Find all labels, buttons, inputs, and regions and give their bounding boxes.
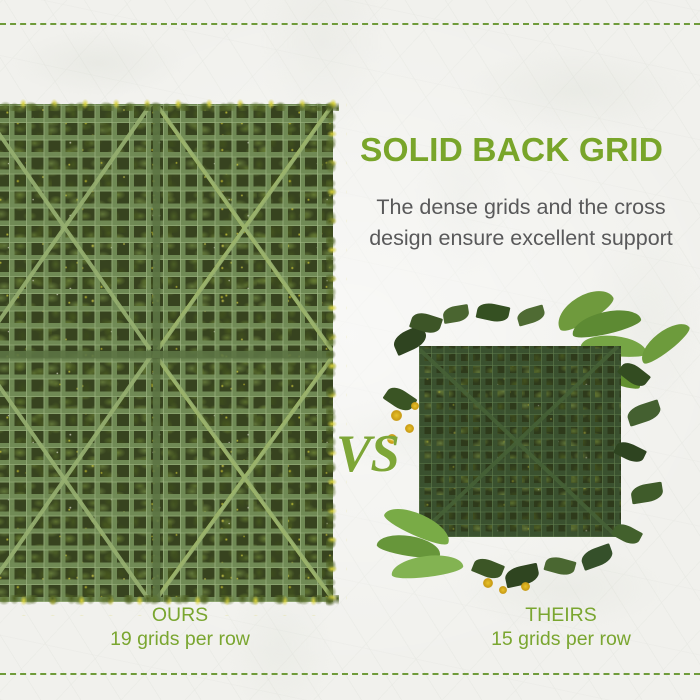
subheadline: The dense grids and the cross design ens… xyxy=(345,192,697,253)
versus-badge: VS xyxy=(336,424,399,484)
ours-tile-seam-horizontal xyxy=(0,351,333,358)
product-comparison-image: SOLID BACK GRID The dense grids and the … xyxy=(0,0,700,700)
caption-ours-detail: 19 grids per row xyxy=(35,628,325,652)
caption-theirs: THEIRS 15 grids per row xyxy=(416,604,700,652)
caption-ours: OURS 19 grids per row xyxy=(35,604,325,652)
subheadline-line-2: design ensure excellent support xyxy=(345,223,697,254)
caption-theirs-detail: 15 grids per row xyxy=(416,628,700,652)
caption-theirs-title: THEIRS xyxy=(416,604,700,628)
headline: SOLID BACK GRID xyxy=(360,133,695,169)
caption-ours-title: OURS xyxy=(35,604,325,628)
bottom-dashed-rule xyxy=(0,673,700,675)
top-dashed-rule xyxy=(0,23,700,25)
subheadline-line-1: The dense grids and the cross xyxy=(345,192,697,223)
theirs-hedge-panel xyxy=(419,346,621,537)
ours-hedge-panel xyxy=(0,104,333,602)
theirs-cross-bracing xyxy=(419,346,621,537)
